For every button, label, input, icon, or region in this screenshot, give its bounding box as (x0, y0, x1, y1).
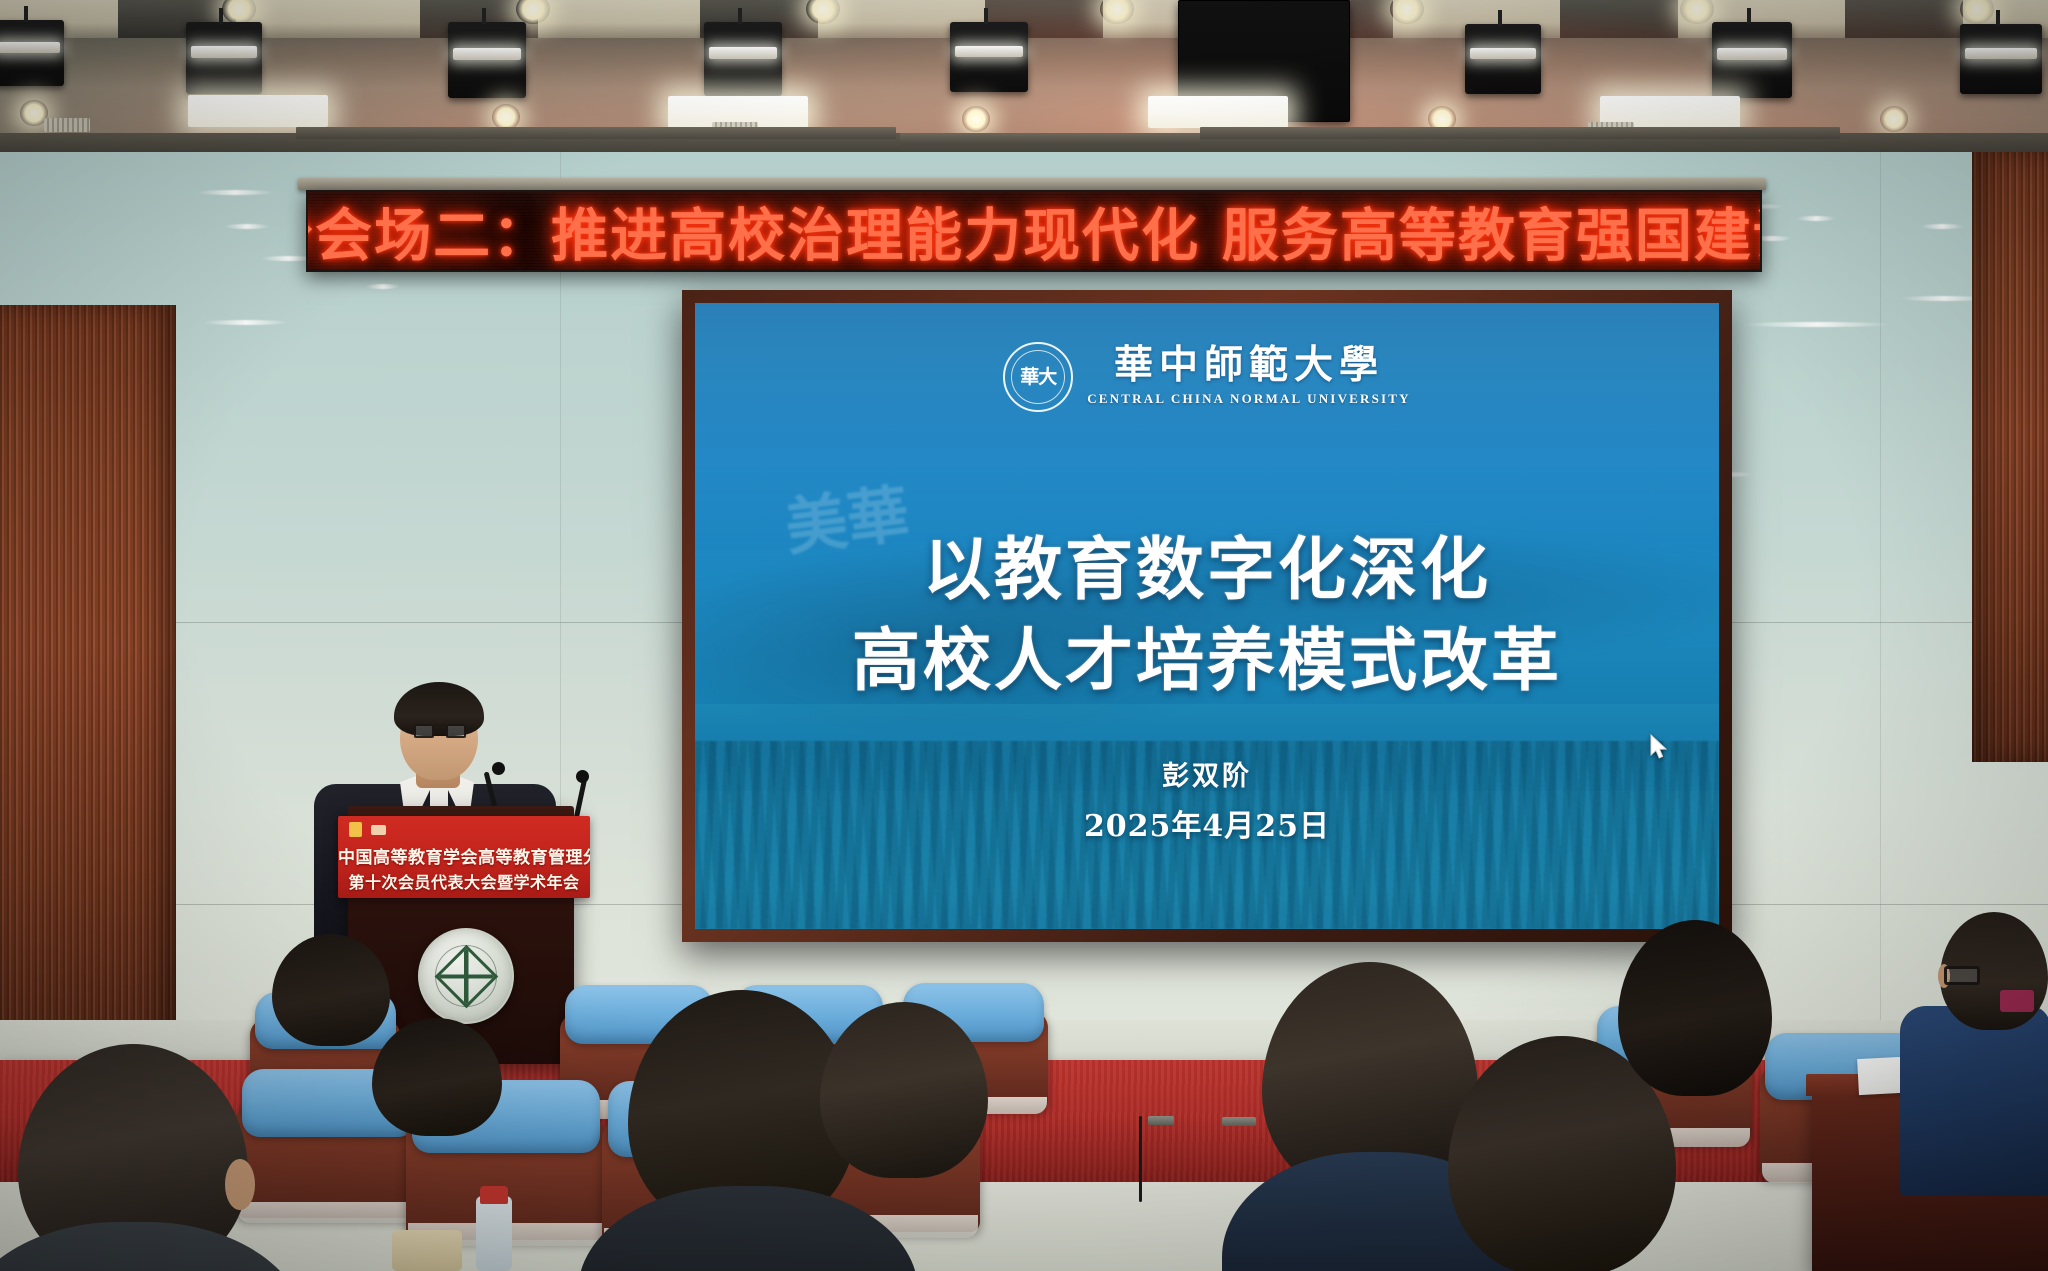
seal-glyph: 華大 (1020, 368, 1056, 386)
led-banner: 分会场二：推进高校治理能力现代化 服务高等教育强国建设 (306, 190, 1762, 272)
stage-spotlight (1960, 24, 2042, 94)
stage-spotlight (950, 22, 1028, 92)
slide-byline: 彭双阶 2025年4月25日 (695, 754, 1719, 845)
stage-spotlight (448, 22, 526, 98)
projection-screen: 美華 華大 華中師範大學 CENTRAL CHINA NORMAL UNIVER… (695, 303, 1719, 929)
slide-date: 2025年4月25日 (695, 801, 1719, 845)
podium-sign: 中国高等教育学会高等教育管理分会 第十次会员代表大会暨学术年会 (338, 816, 590, 898)
stage-spotlight (1465, 24, 1541, 94)
wood-wall-panel-left (0, 305, 176, 1050)
podium-sign-line-2: 第十次会员代表大会暨学术年会 (338, 869, 590, 893)
floor-outlet-plate (1148, 1116, 1174, 1125)
audience-member (820, 1002, 988, 1178)
wood-wall-panel-right (1972, 152, 2048, 762)
slide-title: 以教育数字化深化 高校人才培养模式改革 (695, 525, 1719, 706)
university-seal-icon: 華大 (1003, 342, 1073, 412)
projection-screen-frame: 美華 華大 華中師範大學 CENTRAL CHINA NORMAL UNIVER… (682, 290, 1732, 942)
podium-sign-line-1: 中国高等教育学会高等教育管理分会 (338, 843, 590, 868)
ceiling-downlight (1880, 106, 1908, 132)
stage-spotlight (0, 20, 64, 86)
bottle-cap (480, 1186, 508, 1204)
ceiling-soffit-ledge (1200, 127, 1840, 139)
ceiling-downlight (962, 106, 990, 132)
ceiling-panel-light (1148, 96, 1288, 128)
audience-member (18, 1044, 248, 1271)
audience-member (1262, 962, 1478, 1194)
presenter-glasses (430, 724, 448, 736)
water-bottle (476, 1196, 512, 1271)
ceiling-soffit-ledge (900, 133, 1200, 145)
stage-spotlight (704, 22, 782, 96)
microphone-head (492, 762, 505, 775)
ceiling-soffit-ledge (296, 127, 896, 139)
university-name-cn: 華中師範大學 (1114, 346, 1384, 385)
side-reader-suit (1900, 1006, 2048, 1196)
stage-spotlight (1712, 22, 1792, 98)
university-name-en: CENTRAL CHINA NORMAL UNIVERSITY (1087, 391, 1411, 407)
led-banner-text: 分会场二：推进高校治理能力现代化 服务高等教育强国建设 (306, 190, 1762, 272)
podium-sign-emblems (349, 822, 386, 837)
floor-cable (1139, 1116, 1142, 1202)
ceiling-vent (44, 118, 90, 132)
cup (392, 1230, 462, 1271)
stage-spotlight (186, 22, 262, 94)
university-logo: 華大 華中師範大學 CENTRAL CHINA NORMAL UNIVERSIT… (695, 342, 1719, 412)
audience-member (1618, 920, 1772, 1096)
audience-member (372, 1018, 502, 1136)
ceiling-panel-light (188, 95, 328, 127)
slide-title-line-2: 高校人才培养模式改革 (695, 616, 1719, 706)
microphone-head (576, 770, 589, 783)
slide-title-line-1: 以教育数字化深化 (695, 525, 1719, 615)
podium-institution-seal-icon (418, 928, 514, 1024)
slide-presenter-name: 彭双阶 (695, 754, 1719, 793)
floor-outlet-plate (1222, 1117, 1256, 1126)
podium-emblem-secondary-icon (371, 825, 386, 835)
conference-photo-scene: 分会场二：推进高校治理能力现代化 服务高等教育强国建设 美華 華大 華中師範大學… (0, 0, 2048, 1271)
side-reader-lanyard (2000, 990, 2034, 1012)
side-reader-glasses (1944, 966, 1980, 985)
ceiling (0, 0, 2048, 152)
podium-emblem-icon (349, 822, 362, 837)
led-banner-mount (298, 178, 1766, 190)
